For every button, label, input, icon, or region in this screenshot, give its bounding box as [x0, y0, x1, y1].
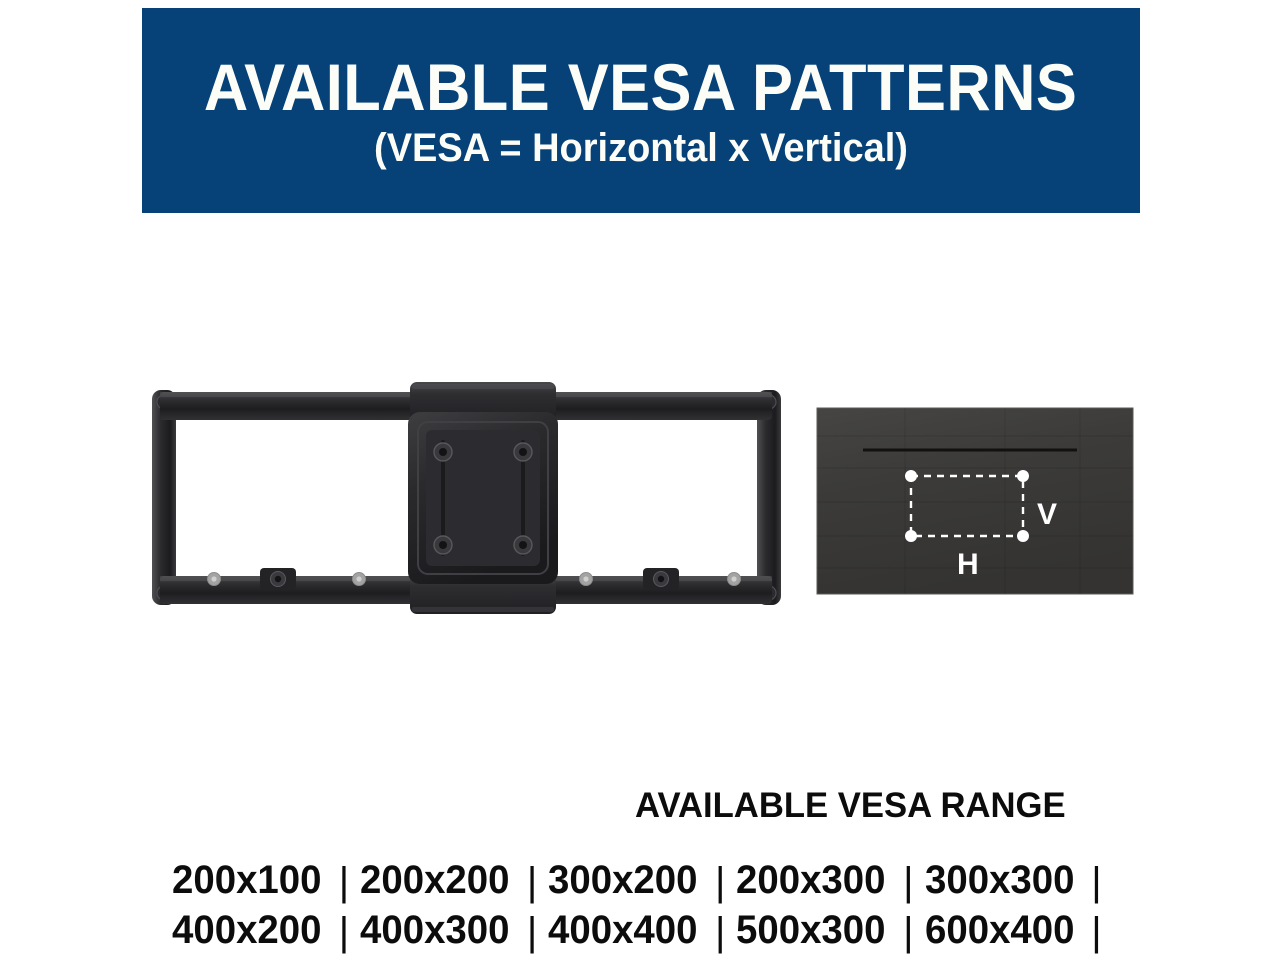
vesa-size: 400x300	[360, 910, 510, 950]
vesa-size: 300x200	[548, 860, 698, 900]
range-separator: |	[704, 862, 736, 902]
vesa-size: 200x300	[736, 860, 886, 900]
vesa-size: 500x300	[736, 910, 886, 950]
mount-frame-right-post	[757, 390, 781, 605]
vesa-size: 300x300	[925, 860, 1075, 900]
center-vesa-plate	[408, 382, 558, 614]
poster-canvas: AVAILABLE VESA PATTERNS (VESA = Horizont…	[0, 0, 1280, 960]
plate-screw-top-left	[434, 443, 452, 461]
range-separator: |	[704, 912, 736, 952]
rail-clamp-screw-right	[643, 568, 679, 590]
page-subtitle: (VESA = Horizontal x Vertical)	[374, 128, 908, 168]
plate-screw-top-right	[514, 443, 532, 461]
range-separator: |	[516, 862, 548, 902]
plate-screw-bottom-right	[514, 536, 532, 554]
range-separator: |	[516, 912, 548, 952]
vesa-hole-tl	[905, 470, 917, 482]
range-separator: |	[328, 862, 360, 902]
vesa-range-row-1: 200x100|200x200|300x200|200x300|300x300|	[172, 860, 1132, 900]
mount-frame-left-post	[152, 390, 176, 605]
rail-clamp-gray-left2	[353, 573, 366, 586]
vesa-size: 400x200	[172, 910, 322, 950]
vesa-size: 600x400	[925, 910, 1075, 950]
rail-clamp-screw-left	[260, 568, 296, 590]
range-separator: |	[328, 912, 360, 952]
rail-clamp-gray-right	[580, 573, 593, 586]
page-title: AVAILABLE VESA PATTERNS	[204, 54, 1077, 120]
vesa-rail-5	[648, 292, 682, 710]
header-banner: AVAILABLE VESA PATTERNS (VESA = Horizont…	[142, 8, 1140, 213]
vesa-hole-br	[1017, 530, 1029, 542]
rail-clamp-gray-left	[208, 573, 221, 586]
vesa-rail-6	[717, 292, 751, 710]
vesa-rail-3	[342, 292, 376, 710]
range-separator: |	[1080, 862, 1112, 902]
tv-mount-illustration	[140, 280, 820, 720]
vesa-size: 400x400	[548, 910, 698, 950]
range-separator: |	[892, 862, 924, 902]
vesa-size: 200x100	[172, 860, 322, 900]
vesa-hole-tr	[1017, 470, 1029, 482]
vertical-label: V	[1037, 498, 1057, 531]
vesa-rail-2	[265, 292, 299, 710]
plate-screw-bottom-left	[434, 536, 452, 554]
vesa-hole-bl	[905, 530, 917, 542]
range-separator: |	[892, 912, 924, 952]
tv-back-panel-illustration: V H	[815, 406, 1135, 598]
horizontal-label: H	[957, 548, 979, 581]
vesa-rail-4	[569, 292, 603, 710]
vesa-range-row-2: 400x200|400x300|400x400|500x300|600x400|	[172, 910, 1132, 950]
rail-clamp-gray-right2	[728, 573, 741, 586]
vesa-rail-1	[194, 292, 228, 710]
range-heading: AVAILABLE VESA RANGE	[635, 786, 1066, 826]
range-separator: |	[1080, 912, 1112, 952]
vesa-size: 200x200	[360, 860, 510, 900]
